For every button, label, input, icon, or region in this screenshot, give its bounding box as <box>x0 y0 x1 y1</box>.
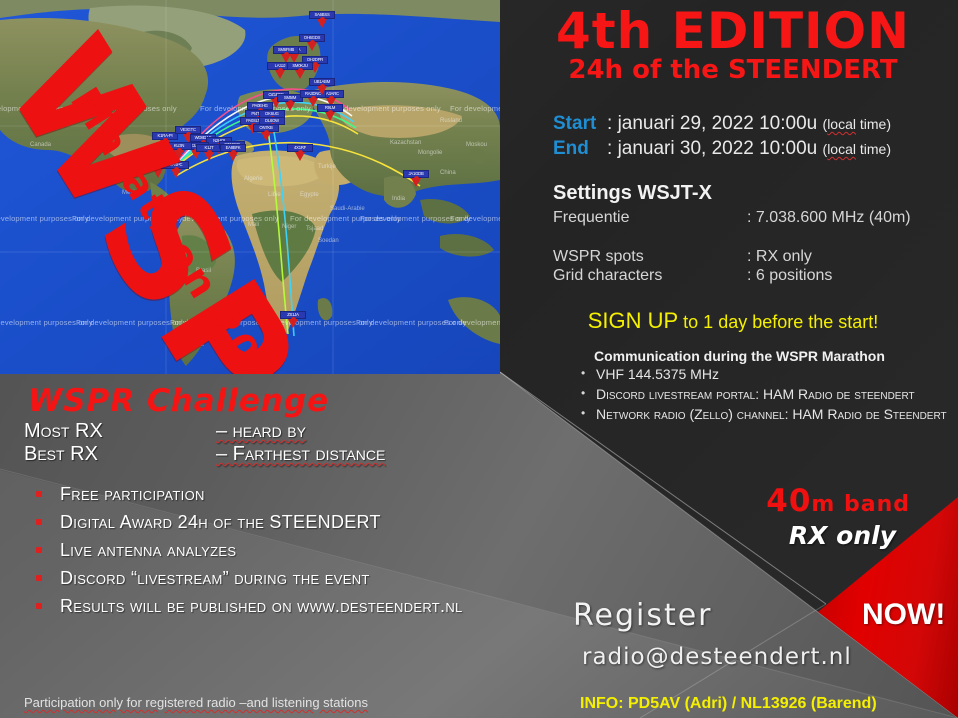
map-spot-pin[interactable]: SM0KJU <box>287 62 313 73</box>
schedule-end-separator: : <box>607 138 612 159</box>
settings-row-spots: WSPR spots: RX only <box>553 248 812 266</box>
communication-title: Communication during the WSPR Marathon <box>594 348 885 364</box>
map-place-label: Mongolie <box>418 150 442 156</box>
list-item: Digital Award 24h of the STEENDERT <box>18 511 598 533</box>
map-spot-callsign: R9LM <box>317 104 343 112</box>
signup-callout[interactable]: SIGN UP to 1 day before the start! <box>508 308 958 334</box>
map-spot-callsign: PA0EHG <box>247 102 273 110</box>
signup-rest: to 1 day before the start! <box>678 312 878 332</box>
list-item: Discord “livestream” during the event <box>18 567 598 589</box>
wspr-propagation-map[interactable]: For development purposes only For develo… <box>0 0 500 374</box>
info-contacts: INFO: PD5AV (Adri) / NL13926 (Barend) <box>580 695 877 713</box>
map-dev-notice: For development purposes only <box>330 104 441 113</box>
list-item: VHF 144.5375 MHz <box>578 365 953 384</box>
schedule-end-value: januari 30, 2022 10:00u <box>618 138 818 159</box>
register-heading: Register <box>573 598 713 633</box>
map-place-label: Algerie <box>244 176 263 182</box>
contact-email[interactable]: radio@desteendert.nl <box>582 644 852 670</box>
schedule-start-label: Start <box>553 113 607 135</box>
footnote: Participation only for registered radio … <box>24 695 368 710</box>
map-place-label: India <box>392 196 405 202</box>
map-spot-callsign: EA8BFK <box>220 144 246 152</box>
now-callout[interactable]: NOW! <box>862 598 945 632</box>
map-dev-notice: For development purposes only <box>450 214 500 223</box>
features-list: Free participation Digital Award 24h of … <box>18 483 598 623</box>
challenge-desc: – Farthest distance <box>216 443 385 465</box>
map-spot-pin[interactable]: R9LM <box>317 104 343 115</box>
schedule-start-note: (local time) <box>823 116 891 132</box>
settings-value: : 7.038.600 MHz (40m) <box>747 209 911 226</box>
challenge-row-most-rx: Most RX– heard by <box>24 420 306 443</box>
map-spot-pin[interactable]: SA6BSS <box>309 11 335 22</box>
map-spot-callsign: SM6FMB <box>273 46 299 54</box>
map-spot-callsign: 4X1RF <box>287 144 313 152</box>
map-spot-pin[interactable]: SM6FMB <box>273 46 299 57</box>
challenge-title: WSPR Challenge <box>28 383 329 419</box>
map-spot-callsign: SA6BSS <box>309 11 335 19</box>
headline-subtitle: 24h of the STEENDERT <box>508 56 958 84</box>
settings-value: : 6 positions <box>747 267 832 284</box>
map-place-label: China <box>440 170 456 176</box>
list-item: Results will be published on www.desteen… <box>18 595 598 617</box>
challenge-desc: – heard by <box>216 420 306 442</box>
settings-value: : RX only <box>747 248 812 265</box>
map-spot-pin[interactable]: 4X1RF <box>287 144 313 155</box>
band-unit: m band <box>811 492 910 517</box>
signup-strong: SIGN UP <box>588 308 678 333</box>
map-place-label: Niger <box>282 224 296 230</box>
settings-row-grid: Grid characters: 6 positions <box>553 267 832 285</box>
schedule-start-separator: : <box>607 113 612 134</box>
map-place-label: Soedan <box>318 238 339 244</box>
settings-title: Settings WSJT-X <box>553 182 712 205</box>
settings-label: Grid characters <box>553 267 747 285</box>
settings-label: WSPR spots <box>553 248 747 266</box>
map-spot-callsign: JA1GDB <box>403 170 429 178</box>
schedule-end-note: (local time) <box>823 141 891 157</box>
map-spot-pin[interactable]: JA1GDB <box>403 170 429 181</box>
map-place-label: Saudi-Arabie <box>330 206 365 212</box>
map-spot-callsign: UB1ABM <box>309 78 335 86</box>
map-spot-pin[interactable]: EA8BFK <box>220 144 246 155</box>
list-item: Free participation <box>18 483 598 505</box>
map-spot-callsign: OH6GDX <box>299 34 325 42</box>
settings-row-frequency: Frequentie: 7.038.600 MHz (40m) <box>553 209 911 227</box>
schedule-start-row: Start: januari 29, 2022 10:00u (local ti… <box>553 113 891 135</box>
communication-list: VHF 144.5375 MHz Discord livestream port… <box>578 365 953 425</box>
map-place-label: Tsjaad <box>306 226 323 232</box>
map-place-label: Libie <box>268 192 281 198</box>
list-item: Live antenna analyzes <box>18 539 598 561</box>
settings-label: Frequentie <box>553 209 747 227</box>
band-mode: RX only <box>580 521 896 550</box>
band-badge: 40m band <box>580 483 910 519</box>
list-item: Network radio (Zello) channel: HAM Radio… <box>578 405 953 424</box>
list-item: Discord livestream portal: HAM Radio de … <box>578 385 953 404</box>
map-place-label: Kazachstan <box>390 140 421 146</box>
challenge-row-best-rx: Best RX– Farthest distance <box>24 443 385 466</box>
map-place-label: Turkije <box>318 164 336 170</box>
map-place-label: Rusland <box>440 118 462 124</box>
map-spot-pin[interactable]: UB1ABM <box>309 78 335 89</box>
poster-headline: 4th EDITION 24h of the STEENDERT <box>508 4 958 84</box>
band-number: 40 <box>766 483 811 519</box>
map-place-label: Egypte <box>300 192 319 198</box>
map-spot-callsign: ON7KB <box>253 124 279 132</box>
challenge-name: Best RX <box>24 443 216 466</box>
schedule-end-label: End <box>553 138 607 160</box>
schedule-start-value: januari 29, 2022 10:00u <box>618 113 818 134</box>
map-spot-pin[interactable]: ON7KB <box>253 124 279 135</box>
map-dev-notice: For development purposes only <box>450 104 500 113</box>
headline-edition: 4th EDITION <box>508 4 958 58</box>
poster-root: For development purposes only For develo… <box>0 0 958 718</box>
map-place-label: Moskou <box>466 142 487 148</box>
map-dev-notice: For development purposes only <box>444 318 500 327</box>
map-spot-pin[interactable]: OH6GDX <box>299 34 325 45</box>
schedule-end-row: End: januari 30, 2022 10:00u (local time… <box>553 138 891 160</box>
challenge-name: Most RX <box>24 420 216 443</box>
map-spot-callsign: SM0KJU <box>287 62 313 70</box>
